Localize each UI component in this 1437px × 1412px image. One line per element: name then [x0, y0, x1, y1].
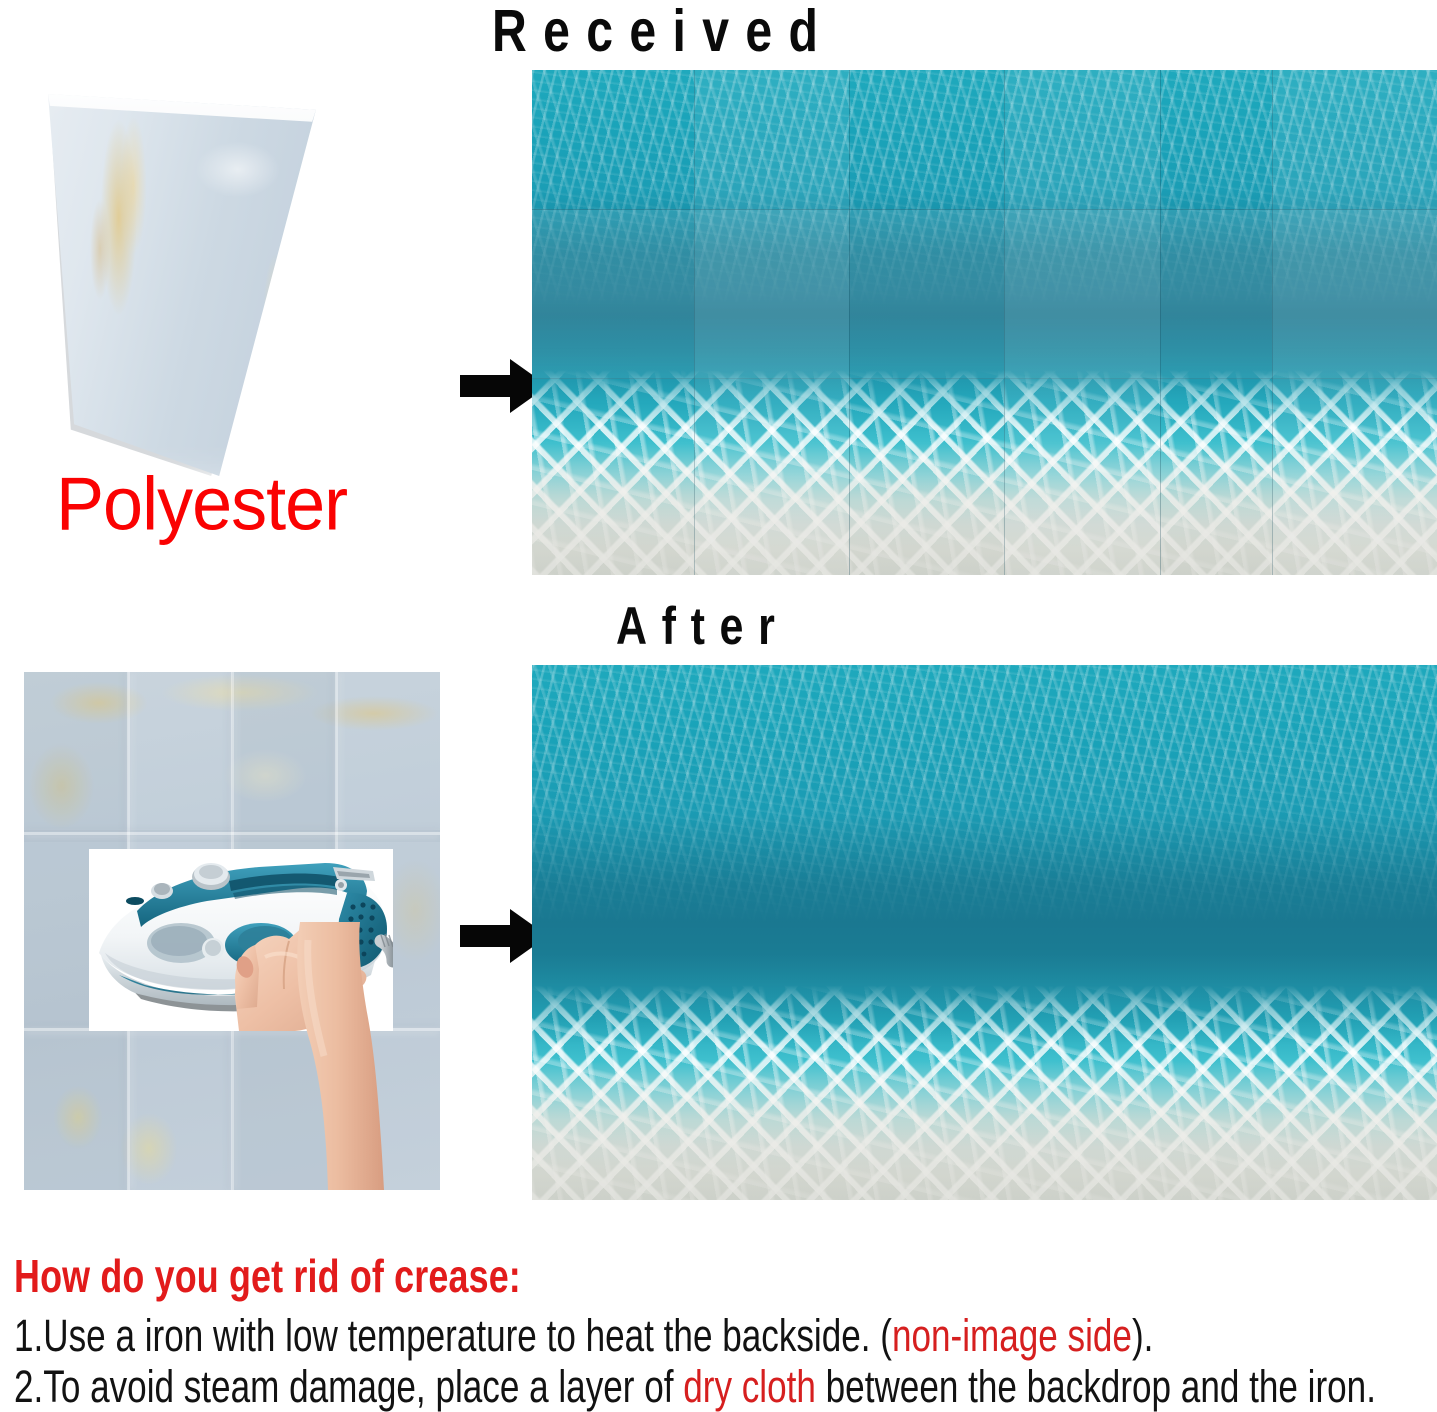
forearm-illustration — [264, 922, 394, 1190]
received-backdrop-photo — [532, 70, 1437, 575]
backdrop-crease-horizontal — [24, 832, 440, 835]
crease-vertical — [1160, 70, 1161, 575]
care-step-2: 2.To avoid steam damage, place a layer o… — [14, 1363, 1122, 1411]
care-step-2-highlight: dry cloth — [683, 1361, 816, 1412]
crease-vertical — [849, 70, 850, 575]
care-step-1: 1.Use a iron with low temperature to hea… — [14, 1312, 1122, 1360]
folded-fabric-image — [8, 72, 428, 492]
sand-tint — [532, 1060, 1437, 1200]
page-title-received: Received — [492, 0, 834, 65]
care-step-2-suffix: between the backdrop and the iron. — [816, 1361, 1376, 1412]
after-backdrop-photo — [532, 665, 1437, 1200]
water-surface-ripples — [532, 665, 1437, 1025]
care-step-1-prefix: 1.Use a iron with low temperature to hea… — [14, 1310, 892, 1361]
care-title: How do you get rid of crease: — [14, 1249, 1122, 1303]
crease-panel — [1004, 70, 1160, 575]
care-instructions: How do you get rid of crease: 1.Use a ir… — [14, 1249, 1434, 1410]
care-step-1-suffix: ). — [1132, 1310, 1153, 1361]
crease-panel — [1272, 70, 1437, 575]
folded-fabric-body — [22, 82, 394, 480]
care-step-2-prefix: 2.To avoid steam damage, place a layer o… — [14, 1361, 683, 1412]
care-step-1-highlight: non-image side — [892, 1310, 1132, 1361]
polyester-label: Polyester — [56, 462, 347, 547]
forearm — [264, 922, 394, 1190]
page-title-after: After — [616, 595, 789, 656]
crease-panel — [694, 70, 849, 575]
backdrop-backside-image — [24, 672, 440, 1190]
